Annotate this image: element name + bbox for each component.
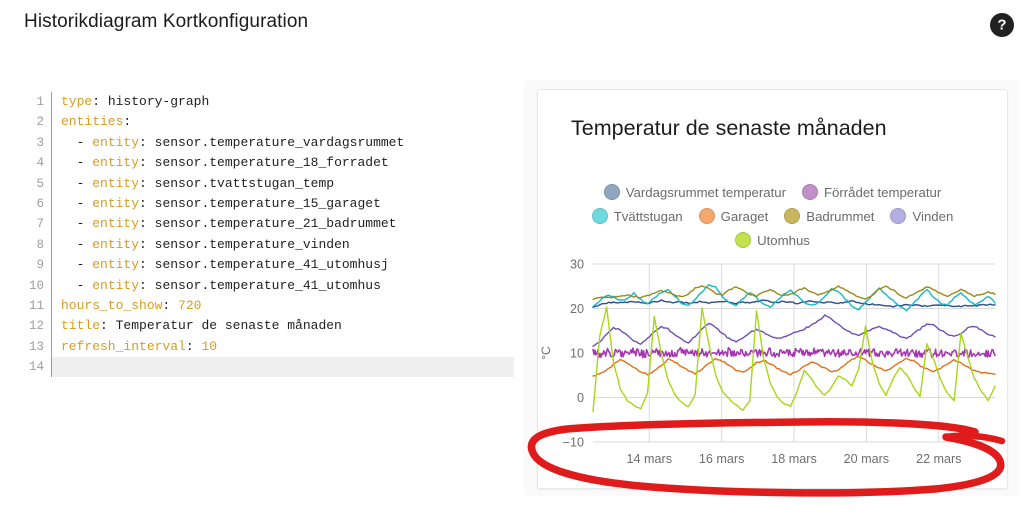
code-line[interactable]: 12title: Temperatur de senaste månaden: [18, 316, 514, 336]
help-question-mark: ?: [997, 17, 1006, 32]
code-token: sensor.temperature_vinden: [155, 235, 350, 255]
line-number: 4: [18, 153, 51, 173]
code-token: -: [61, 153, 92, 173]
legend-item[interactable]: Förrådet temperatur: [802, 180, 941, 204]
code-token: -: [61, 133, 92, 153]
code-token: type: [61, 92, 92, 112]
line-number: 7: [18, 214, 51, 234]
code-token: -: [61, 276, 92, 296]
legend-label: Garaget: [721, 209, 769, 224]
legend-item[interactable]: Garaget: [699, 204, 769, 228]
code-token: sensor.temperature_41_utomhusj: [155, 255, 389, 275]
code-text[interactable]: - entity: sensor.temperature_vardagsrumm…: [52, 133, 514, 153]
code-text[interactable]: title: Temperatur de senaste månaden: [52, 316, 514, 336]
code-token: -: [61, 235, 92, 255]
code-token: sensor.temperature_vardagsrummet: [155, 133, 405, 153]
code-text[interactable]: - entity: sensor.tvattstugan_temp: [52, 174, 514, 194]
code-token: :: [139, 235, 155, 255]
line-number: 6: [18, 194, 51, 214]
line-number: 1: [18, 92, 51, 112]
x-axis-tick-label: 22 mars: [916, 452, 962, 466]
code-token: title: [61, 316, 100, 336]
code-token: entity: [92, 153, 139, 173]
legend-item[interactable]: Utomhus: [735, 228, 810, 252]
legend-label: Badrummet: [806, 209, 874, 224]
legend-item[interactable]: Vardagsrummet temperatur: [604, 180, 786, 204]
line-number: 3: [18, 133, 51, 153]
code-token: :: [139, 174, 155, 194]
code-token: entities: [61, 112, 123, 132]
code-line[interactable]: 9 - entity: sensor.temperature_41_utomhu…: [18, 255, 514, 275]
legend-swatch-icon: [735, 232, 751, 248]
legend-swatch-icon: [784, 208, 800, 224]
code-line[interactable]: 7 - entity: sensor.temperature_21_badrum…: [18, 214, 514, 234]
code-line[interactable]: 5 - entity: sensor.tvattstugan_temp: [18, 174, 514, 194]
x-axis-tick-label: 18 mars: [771, 452, 817, 466]
legend-label: Vardagsrummet temperatur: [626, 185, 786, 200]
code-line[interactable]: 1type: history-graph: [18, 92, 514, 112]
legend-swatch-icon: [802, 184, 818, 200]
code-line[interactable]: 11hours_to_show: 720: [18, 296, 514, 316]
page-header: Historikdiagram Kortkonfiguration ?: [0, 0, 1035, 56]
code-token: sensor.temperature_21_badrummet: [155, 214, 397, 234]
code-token: entity: [92, 255, 139, 275]
line-number: 12: [18, 316, 51, 336]
chart-panel: Temperatur de senaste månaden Vardagsrum…: [523, 80, 1020, 496]
x-axis-tick-label: 16 mars: [699, 452, 745, 466]
code-line[interactable]: 6 - entity: sensor.temperature_15_garage…: [18, 194, 514, 214]
code-token: sensor.temperature_18_forradet: [155, 153, 389, 173]
chart-legend: Vardagsrummet temperaturFörrådet tempera…: [556, 180, 989, 252]
line-number: 14: [18, 357, 51, 377]
help-icon[interactable]: ?: [990, 13, 1014, 37]
legend-swatch-icon: [890, 208, 906, 224]
line-number: 11: [18, 296, 51, 316]
yaml-code-editor[interactable]: 1type: history-graph2entities:3 - entity…: [18, 92, 514, 380]
line-number: 9: [18, 255, 51, 275]
code-token: :: [139, 194, 155, 214]
code-text[interactable]: - entity: sensor.temperature_41_utomhus: [52, 276, 514, 296]
y-axis-tick-label: 0: [577, 391, 584, 405]
code-token: :: [100, 316, 116, 336]
code-line[interactable]: 2entities:: [18, 112, 514, 132]
code-token: :: [123, 112, 131, 132]
line-number: 10: [18, 276, 51, 296]
code-token: :: [139, 255, 155, 275]
code-text[interactable]: entities:: [52, 112, 514, 132]
code-token: :: [139, 153, 155, 173]
legend-label: Förrådet temperatur: [824, 185, 941, 200]
x-axis-tick-label: 14 mars: [627, 452, 673, 466]
code-token: :: [139, 276, 155, 296]
code-line[interactable]: 10 - entity: sensor.temperature_41_utomh…: [18, 276, 514, 296]
code-line[interactable]: 3 - entity: sensor.temperature_vardagsru…: [18, 133, 514, 153]
code-token: 720: [178, 296, 201, 316]
code-token: refresh_interval: [61, 337, 186, 357]
code-token: -: [61, 174, 92, 194]
chart-svg: 3020100−1014 mars16 mars18 mars20 mars22…: [538, 256, 1007, 488]
legend-item[interactable]: Vinden: [890, 204, 953, 228]
legend-label: Utomhus: [757, 233, 810, 248]
code-text[interactable]: - entity: sensor.temperature_vinden: [52, 235, 514, 255]
legend-swatch-icon: [604, 184, 620, 200]
code-token: entity: [92, 235, 139, 255]
code-token: history-graph: [108, 92, 209, 112]
line-number: 5: [18, 174, 51, 194]
code-token: sensor.temperature_41_utomhus: [155, 276, 381, 296]
code-text[interactable]: - entity: sensor.temperature_41_utomhusj: [52, 255, 514, 275]
legend-swatch-icon: [592, 208, 608, 224]
y-axis-tick-label: 20: [570, 302, 584, 316]
code-token: sensor.tvattstugan_temp: [155, 174, 334, 194]
legend-label: Vinden: [912, 209, 953, 224]
plot-area: 3020100−1014 mars16 mars18 mars20 mars22…: [538, 256, 1007, 488]
code-token: :: [162, 296, 178, 316]
line-number: 8: [18, 235, 51, 255]
chart-title: Temperatur de senaste månaden: [571, 116, 887, 141]
code-line[interactable]: 14: [18, 357, 514, 377]
code-text[interactable]: - entity: sensor.temperature_18_forradet: [52, 153, 514, 173]
y-axis-label: °C: [539, 346, 553, 360]
code-token: -: [61, 214, 92, 234]
code-token: 10: [201, 337, 217, 357]
code-text[interactable]: [52, 357, 514, 377]
code-token: entity: [92, 214, 139, 234]
code-token: entity: [92, 133, 139, 153]
code-token: entity: [92, 194, 139, 214]
code-line[interactable]: 8 - entity: sensor.temperature_vinden: [18, 235, 514, 255]
legend-item[interactable]: Badrummet: [784, 204, 874, 228]
y-axis-tick-label: 30: [570, 258, 584, 272]
code-line[interactable]: 4 - entity: sensor.temperature_18_forrad…: [18, 153, 514, 173]
code-text[interactable]: - entity: sensor.temperature_15_garaget: [52, 194, 514, 214]
page-title: Historikdiagram Kortkonfiguration: [24, 11, 308, 33]
line-number: 13: [18, 337, 51, 357]
code-token: Temperatur de senaste månaden: [116, 316, 342, 336]
legend-label: Tvättstugan: [614, 209, 683, 224]
legend-item[interactable]: Tvättstugan: [592, 204, 683, 228]
code-token: entity: [92, 276, 139, 296]
code-token: :: [92, 92, 108, 112]
x-axis-tick-label: 20 mars: [844, 452, 890, 466]
line-number: 2: [18, 112, 51, 132]
code-token: :: [139, 133, 155, 153]
code-text[interactable]: - entity: sensor.temperature_21_badrumme…: [52, 214, 514, 234]
code-text[interactable]: refresh_interval: 10: [52, 337, 514, 357]
code-text[interactable]: hours_to_show: 720: [52, 296, 514, 316]
code-line[interactable]: 13refresh_interval: 10: [18, 337, 514, 357]
code-token: hours_to_show: [61, 296, 162, 316]
code-token: :: [186, 337, 202, 357]
code-token: -: [61, 255, 92, 275]
history-graph-card: Temperatur de senaste månaden Vardagsrum…: [537, 89, 1008, 489]
code-token: entity: [92, 174, 139, 194]
code-token: -: [61, 194, 92, 214]
code-token: :: [139, 214, 155, 234]
y-axis-tick-label: 10: [570, 347, 584, 361]
code-token: sensor.temperature_15_garaget: [155, 194, 381, 214]
code-text[interactable]: type: history-graph: [52, 92, 514, 112]
legend-swatch-icon: [699, 208, 715, 224]
y-axis-tick-label: −10: [563, 436, 584, 450]
